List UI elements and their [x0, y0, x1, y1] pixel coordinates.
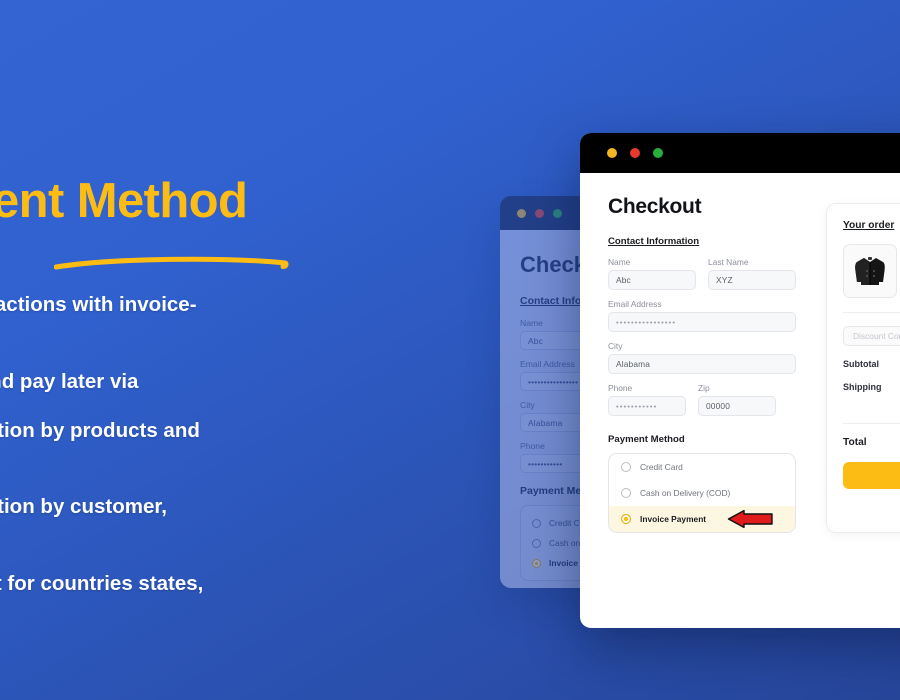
name-input[interactable]: Abc: [608, 270, 696, 290]
city-label: City: [608, 341, 796, 351]
your-order-heading: Your order: [843, 220, 900, 231]
phone-zip-row: Phone ••••••••••• Zip 00000: [608, 383, 808, 425]
contact-information-heading: Contact Information: [608, 236, 808, 247]
name-row: Name Abc Last Name XYZ: [608, 257, 808, 299]
dot-yellow-icon: [517, 209, 526, 218]
dot-red-icon: [535, 209, 544, 218]
underline-swoosh-icon: [54, 254, 289, 272]
radio-icon[interactable]: [621, 488, 631, 498]
total-row: Total: [843, 437, 900, 448]
list-item: e invoice payment for countries states, …: [0, 570, 484, 626]
radio-icon[interactable]: [621, 462, 631, 472]
radio-icon: [532, 539, 541, 548]
order-summary-panel: Your order Jo $2: [826, 203, 900, 533]
checkout-form-column: Checkout Contact Information Name Abc La…: [608, 195, 808, 533]
marketing-copy: e Payment Method e wholesale transaction…: [0, 176, 484, 647]
window-titlebar: [580, 133, 900, 173]
list-item: voice payment option by customer, der am…: [0, 493, 484, 549]
payment-option-label: Cash on Delivery (COD): [640, 488, 730, 498]
shipping-row: Shipping: [843, 382, 900, 409]
discount-coupon-input[interactable]: Discount Coupon: [843, 326, 900, 346]
radio-selected-icon: [532, 559, 541, 568]
page-title: e Payment Method: [0, 176, 484, 227]
checkout-page-title: Checkout: [608, 195, 808, 219]
zip-input[interactable]: 00000: [698, 396, 776, 416]
list-item: e wholesale transactions with invoice- m…: [0, 291, 484, 347]
city-field-group: City Alabama: [608, 341, 796, 374]
payment-option-label: Credit Card: [640, 462, 683, 472]
zip-field-group: Zip 00000: [698, 383, 776, 416]
phone-label: Phone: [608, 383, 686, 393]
email-input[interactable]: ••••••••••••••••: [608, 312, 796, 332]
divider: [843, 423, 900, 424]
radio-icon: [532, 519, 541, 528]
last-name-label: Last Name: [708, 257, 796, 267]
payment-method-options: Credit Card Cash on Delivery (COD) Invoi…: [608, 453, 796, 533]
feature-bullet-list: e wholesale transactions with invoice- m…: [0, 291, 484, 626]
email-field-group: Email Address ••••••••••••••••: [608, 299, 796, 332]
payment-option-invoice-payment[interactable]: Invoice Payment: [609, 506, 795, 532]
name-field-group: Name Abc: [608, 257, 696, 290]
dot-green-icon[interactable]: [653, 148, 663, 158]
subtotal-label: Subtotal: [843, 359, 879, 369]
pointer-arrow-icon: [727, 510, 773, 528]
checkout-content: Checkout Contact Information Name Abc La…: [580, 173, 900, 533]
phone-field-group: Phone •••••••••••: [608, 383, 686, 416]
order-product-row: Jo $2: [843, 244, 900, 298]
product-thumbnail: [843, 244, 897, 298]
ghost-option-label: Invoice: [549, 558, 578, 568]
payment-option-label: Invoice Payment: [640, 514, 706, 524]
payment-method-heading: Payment Method: [608, 434, 808, 445]
checkout-browser-window: Checkout Contact Information Name Abc La…: [580, 133, 900, 628]
name-label: Name: [608, 257, 696, 267]
dot-green-icon: [553, 209, 562, 218]
payment-option-credit-card[interactable]: Credit Card: [609, 454, 795, 480]
divider: [843, 312, 900, 313]
dot-red-icon[interactable]: [630, 148, 640, 158]
shipping-label: Shipping: [843, 382, 882, 392]
total-label: Total: [843, 437, 867, 448]
subtotal-row: Subtotal $: [843, 359, 900, 369]
complete-order-button[interactable]: Comple: [843, 462, 900, 489]
ghost-option-label: Cash on: [549, 538, 580, 548]
jacket-icon: [850, 251, 890, 291]
dot-yellow-icon[interactable]: [607, 148, 617, 158]
email-label: Email Address: [608, 299, 796, 309]
zip-label: Zip: [698, 383, 776, 393]
radio-selected-icon[interactable]: [621, 514, 631, 524]
payment-option-cash-on-delivery[interactable]: Cash on Delivery (COD): [609, 480, 795, 506]
last-name-input[interactable]: XYZ: [708, 270, 796, 290]
list-item: voice payment option by products and s: [0, 417, 484, 473]
last-name-field-group: Last Name XYZ: [708, 257, 796, 290]
list-item: ners order now and pay later via: [0, 368, 484, 396]
phone-input[interactable]: •••••••••••: [608, 396, 686, 416]
city-input[interactable]: Alabama: [608, 354, 796, 374]
headline-highlight-part: Payment Method: [0, 174, 247, 228]
